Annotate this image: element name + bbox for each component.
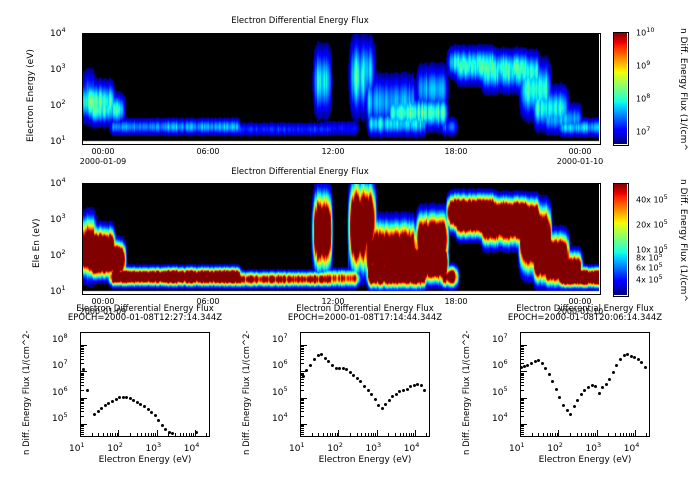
xtick-exp: 2 xyxy=(339,441,343,449)
ytick-minor xyxy=(521,399,524,400)
xtick-minor xyxy=(327,433,328,436)
ytick-exp: 5 xyxy=(503,385,507,393)
ytick-exp: 6 xyxy=(283,358,287,366)
data-point xyxy=(136,401,139,404)
data-point xyxy=(406,388,409,391)
ytick-minor xyxy=(81,434,84,435)
ytick-label: 10 xyxy=(52,361,63,371)
ytick-minor xyxy=(521,408,524,409)
cbar-tick-exp: 7 xyxy=(646,125,650,133)
xtick-minor xyxy=(400,433,401,436)
xtick-label: 00:00 xyxy=(81,147,125,156)
ytick-label: 10 xyxy=(50,29,61,39)
xtick-mark xyxy=(635,430,636,436)
ytick-exp: 5 xyxy=(63,411,67,419)
spectrogram2-colorbar-frame xyxy=(613,183,629,297)
ytick-minor xyxy=(81,363,84,364)
ytick-minor xyxy=(81,428,84,429)
ytick-minor xyxy=(81,385,84,386)
ytick: 106 xyxy=(52,385,68,398)
xtick-minor xyxy=(615,433,616,436)
spectrum-plot-area xyxy=(520,332,650,437)
data-point xyxy=(86,389,89,392)
data-point xyxy=(335,367,338,370)
ytick-minor xyxy=(521,359,524,360)
ytick-minor xyxy=(521,379,524,380)
ytick-minor xyxy=(301,379,304,380)
xtick-label: 10 xyxy=(586,444,597,454)
xtick-mark xyxy=(415,430,416,436)
cbar-tick-label: 6x 10 xyxy=(636,264,659,273)
ytick: 106 xyxy=(272,358,288,371)
cbar-tick-exp: 8 xyxy=(646,92,650,100)
xtick-minor xyxy=(626,433,627,436)
data-point xyxy=(605,383,608,386)
ytick-label: 10 xyxy=(52,414,63,424)
xtick-minor xyxy=(557,433,558,436)
spectrogram2-ylabel: Ele En (eV) xyxy=(32,218,42,268)
xtick-mark xyxy=(520,430,521,436)
ytick-minor xyxy=(301,349,304,350)
xtick-minor xyxy=(183,433,184,436)
xtick-minor xyxy=(595,433,596,436)
ytick-minor xyxy=(81,348,84,349)
xtick-minor xyxy=(388,433,389,436)
ytick-exp: 3 xyxy=(61,62,65,70)
xtick-minor xyxy=(547,433,548,436)
xtick-minor xyxy=(155,433,156,436)
xtick-minor xyxy=(117,433,118,436)
ytick-minor xyxy=(81,356,84,357)
cbar-tick-exp: 5 xyxy=(659,251,663,259)
ytick-exp: 4 xyxy=(503,411,507,419)
ytick-label: 10 xyxy=(272,335,283,345)
ytick-minor xyxy=(301,356,304,357)
xtick-minor xyxy=(112,433,113,436)
ytick: 105 xyxy=(52,411,68,424)
ytick-exp: 8 xyxy=(63,332,67,340)
spectrum-subtitle: EPOCH=2000-01-08T20:06:14.344Z xyxy=(442,313,697,323)
xtick-label: 10 xyxy=(366,444,377,454)
ytick-minor xyxy=(301,351,304,352)
ytick-minor xyxy=(521,426,524,427)
cbar-tick-label: 10 xyxy=(636,95,646,104)
data-point xyxy=(623,354,626,357)
xtick-minor xyxy=(588,433,589,436)
data-point xyxy=(423,389,426,392)
xtick-minor xyxy=(92,433,93,436)
data-point xyxy=(416,383,419,386)
data-point xyxy=(157,419,160,422)
ytick-minor xyxy=(521,411,524,412)
data-point xyxy=(591,384,594,387)
ytick-minor xyxy=(81,375,84,376)
data-point xyxy=(637,358,640,361)
xtick-label: 10 xyxy=(624,444,635,454)
ytick-exp: 4 xyxy=(61,26,65,34)
ytick-minor xyxy=(301,385,304,386)
ytick-minor xyxy=(301,426,304,427)
xtick-exp: 1 xyxy=(300,441,304,449)
ytick-exp: 4 xyxy=(283,411,287,419)
cbar-tick-exp: 10 xyxy=(646,26,654,34)
xtick-minor xyxy=(153,433,154,436)
xtick-label: 10 xyxy=(289,444,300,454)
xtick-minor xyxy=(189,433,190,436)
ytick-minor xyxy=(81,426,84,427)
ytick-exp: 7 xyxy=(63,358,67,366)
ytick-minor xyxy=(521,348,524,349)
data-point xyxy=(594,385,597,388)
xtick-minor xyxy=(318,433,319,436)
ytick-minor xyxy=(81,406,84,407)
xtick-minor xyxy=(145,433,146,436)
ytick-minor xyxy=(521,406,524,407)
data-point xyxy=(633,356,636,359)
xtick-exp: 1 xyxy=(520,441,524,449)
ytick-exp: 1 xyxy=(61,284,65,292)
xtick-minor xyxy=(151,433,152,436)
ytick-minor xyxy=(301,411,304,412)
xtick: 101 xyxy=(509,441,525,454)
ytick-exp: 2 xyxy=(61,98,65,106)
xtick-minor xyxy=(115,433,116,436)
spectrogram1-ylabel: Electron Energy (eV) xyxy=(26,49,36,142)
ytick-minor xyxy=(81,351,84,352)
xtick-minor xyxy=(337,433,338,436)
xtick-minor xyxy=(633,433,634,436)
xtick-minor xyxy=(186,433,187,436)
xtick-minor xyxy=(141,433,142,436)
ytick-exp: 2 xyxy=(61,248,65,256)
xtick-minor xyxy=(373,433,374,436)
data-point xyxy=(388,399,391,402)
ytick-minor xyxy=(81,408,84,409)
data-point xyxy=(111,400,114,403)
ytick-minor xyxy=(301,382,304,383)
data-point xyxy=(598,392,601,395)
ytick-minor xyxy=(521,390,524,391)
ytick-minor xyxy=(301,428,304,429)
ytick-label: 10 xyxy=(492,388,503,398)
ytick-exp: 5 xyxy=(283,385,287,393)
ytick-label: 10 xyxy=(50,215,61,225)
ytick-minor xyxy=(301,416,304,417)
ytick-minor xyxy=(81,400,84,401)
xtick: 102 xyxy=(107,441,123,454)
ytick-minor xyxy=(81,402,84,403)
xtick-minor xyxy=(411,433,412,436)
ytick-label: 10 xyxy=(52,388,63,398)
ytick-minor xyxy=(81,353,84,354)
data-point xyxy=(81,373,84,376)
cbar-tick-exp: 5 xyxy=(664,218,668,226)
xtick: 104 xyxy=(404,441,420,454)
xtick-exp: 3 xyxy=(157,441,161,449)
ytick: 107 xyxy=(52,358,68,371)
xtick-minor xyxy=(543,433,544,436)
cbar-tick-exp: 9 xyxy=(646,59,650,67)
xtick-minor xyxy=(332,433,333,436)
ytick-minor xyxy=(521,349,524,350)
spectrum-ylabel: n Diff. Energy Flux (1/(cm^2- xyxy=(462,330,472,455)
ytick-minor xyxy=(301,402,304,403)
ytick-minor xyxy=(301,430,304,431)
xtick-minor xyxy=(365,433,366,436)
ytick: 105 xyxy=(272,385,288,398)
cbar-tick-exp: 5 xyxy=(659,261,663,269)
ytick: 105 xyxy=(492,385,508,398)
xtick-minor xyxy=(608,433,609,436)
ytick-minor xyxy=(301,425,304,426)
xtick-minor xyxy=(375,433,376,436)
data-point xyxy=(143,405,146,408)
ytick-minor xyxy=(301,408,304,409)
ytick-minor xyxy=(521,385,524,386)
ytick-minor xyxy=(521,346,524,347)
ytick: 107 xyxy=(492,332,508,345)
ytick-label: 10 xyxy=(492,361,503,371)
xtick-mark xyxy=(118,430,119,436)
xtick: 104 xyxy=(184,441,200,454)
ytick-minor xyxy=(521,374,524,375)
data-point xyxy=(302,375,305,378)
data-point xyxy=(530,362,533,365)
spectrum-xlabel: Electron Energy (eV) xyxy=(495,455,675,465)
ytick-exp: 6 xyxy=(503,358,507,366)
spectrogram1-frame xyxy=(82,33,601,145)
xtick-minor xyxy=(361,433,362,436)
xtick: 101 xyxy=(289,441,305,454)
data-point xyxy=(573,405,576,408)
xtick-minor xyxy=(646,433,647,436)
ytick-minor xyxy=(81,399,84,400)
ytick-minor xyxy=(521,382,524,383)
data-point xyxy=(374,398,377,401)
spectrogram2-title: Electron Differential Energy Flux xyxy=(0,167,600,177)
data-point xyxy=(370,393,373,396)
xtick-minor xyxy=(323,433,324,436)
xtick-mark xyxy=(558,430,559,436)
ytick: 104 xyxy=(492,411,508,424)
xtick-minor xyxy=(206,433,207,436)
xtick-label: 10 xyxy=(107,444,118,454)
xtick-minor xyxy=(406,433,407,436)
ytick-minor xyxy=(521,403,524,404)
ytick-minor xyxy=(301,406,304,407)
ytick-minor xyxy=(81,359,84,360)
xtick-minor xyxy=(350,433,351,436)
xtick-minor xyxy=(130,433,131,436)
ytick-minor xyxy=(301,348,304,349)
cbar-tick-label: 20x 10 xyxy=(636,221,664,230)
ytick-minor xyxy=(301,363,304,364)
ytick-minor xyxy=(81,377,84,378)
xtick-minor xyxy=(585,433,586,436)
ytick-minor xyxy=(81,432,84,433)
xtick-exp: 3 xyxy=(597,441,601,449)
ytick-minor xyxy=(521,416,524,417)
ytick-label: 10 xyxy=(272,388,283,398)
xtick-mark xyxy=(338,430,339,436)
xtick-minor xyxy=(357,433,358,436)
data-point xyxy=(349,371,352,374)
cbar-tick-exp: 5 xyxy=(659,273,663,281)
xtick-mark xyxy=(377,430,378,436)
data-point xyxy=(402,389,405,392)
xtick-label: 06:00 xyxy=(186,147,230,156)
spectrogram1-colorbar-label: n Diff. Energy Flux (1/(cm^ xyxy=(678,28,688,151)
data-point xyxy=(420,384,423,387)
spectrum-ylabel: n Diff. Energy Flux (1/(cm^2- xyxy=(242,330,252,455)
ytick: 108 xyxy=(52,332,68,345)
ytick: 104 xyxy=(272,411,288,424)
cbar-tick-exp: 5 xyxy=(664,193,668,201)
xtick-exp: 2 xyxy=(559,441,563,449)
ytick-minor xyxy=(521,356,524,357)
xtick-minor xyxy=(426,433,427,436)
xtick-minor xyxy=(137,433,138,436)
spectrum-plot-area xyxy=(80,332,210,437)
ytick-label: 10 xyxy=(492,335,503,345)
ytick-minor xyxy=(521,363,524,364)
xtick-minor xyxy=(555,433,556,436)
data-point xyxy=(395,393,398,396)
cbar-tick-exp: 5 xyxy=(664,243,668,251)
ytick-minor xyxy=(81,349,84,350)
xtick-minor xyxy=(193,433,194,436)
cbar-tick-label: 10 xyxy=(636,128,646,137)
xtick-mark xyxy=(597,430,598,436)
xtick-minor xyxy=(330,433,331,436)
xtick-minor xyxy=(148,433,149,436)
xtick-minor xyxy=(371,433,372,436)
xtick: 102 xyxy=(547,441,563,454)
ytick-minor xyxy=(301,390,304,391)
ytick-minor xyxy=(81,411,84,412)
xtick-minor xyxy=(395,433,396,436)
ytick-label: 10 xyxy=(50,287,61,297)
data-point xyxy=(154,414,157,417)
data-point xyxy=(313,358,316,361)
ytick-minor xyxy=(81,382,84,383)
xtick-minor xyxy=(532,433,533,436)
data-point xyxy=(93,413,96,416)
ytick-label: 10 xyxy=(50,101,61,111)
xtick-minor xyxy=(538,433,539,436)
xtick-label: 10 xyxy=(404,444,415,454)
data-point xyxy=(619,358,622,361)
ytick-minor xyxy=(301,346,304,347)
xtick-minor xyxy=(409,433,410,436)
spectrogram2-frame xyxy=(82,183,601,295)
ytick-minor xyxy=(521,432,524,433)
data-point xyxy=(541,362,544,365)
xtick-label: 10 xyxy=(69,444,80,454)
xtick-minor xyxy=(175,433,176,436)
xtick-minor xyxy=(552,433,553,436)
xaxis-date-end: 2000-01-10 xyxy=(547,157,613,166)
cbar-tick-label: 10 xyxy=(636,29,646,38)
data-point xyxy=(147,408,150,411)
spectrum-ylabel: n Diff. Energy Flux (1/(cm^2- xyxy=(22,330,32,455)
ytick-minor xyxy=(301,353,304,354)
xtick-minor xyxy=(180,433,181,436)
xtick-label: 10 xyxy=(327,444,338,454)
xtick: 102 xyxy=(327,441,343,454)
data-point xyxy=(562,404,565,407)
xtick-minor xyxy=(107,433,108,436)
xtick-minor xyxy=(98,433,99,436)
ytick-minor xyxy=(301,403,304,404)
xtick-label: 10 xyxy=(184,444,195,454)
ytick-minor xyxy=(81,346,84,347)
ytick-minor xyxy=(521,402,524,403)
ytick-minor xyxy=(521,425,524,426)
ytick-minor xyxy=(301,432,304,433)
spectrum-xlabel: Electron Energy (eV) xyxy=(55,455,235,465)
ytick: 106 xyxy=(492,358,508,371)
xtick-exp: 4 xyxy=(635,441,639,449)
ytick-exp: 1 xyxy=(61,134,65,142)
ytick-minor xyxy=(301,399,304,400)
spectrum-xlabel: Electron Energy (eV) xyxy=(275,455,455,465)
cbar-tick-label: 10 xyxy=(636,62,646,71)
xtick-exp: 4 xyxy=(195,441,199,449)
xtick-minor xyxy=(629,433,630,436)
spectrogram1-colorbar-frame xyxy=(613,32,629,146)
xtick-mark xyxy=(80,430,81,436)
xtick-mark xyxy=(157,430,158,436)
ytick-minor xyxy=(521,430,524,431)
xtick-exp: 4 xyxy=(415,441,419,449)
ytick-minor xyxy=(301,434,304,435)
ytick-minor xyxy=(301,373,304,374)
xtick-minor xyxy=(368,433,369,436)
xtick-label: 00:00 xyxy=(558,147,602,156)
ytick: 107 xyxy=(272,332,288,345)
ytick-minor xyxy=(81,379,84,380)
data-point xyxy=(363,385,366,388)
ytick-minor xyxy=(81,403,84,404)
ytick-minor xyxy=(521,377,524,378)
xtick-minor xyxy=(631,433,632,436)
data-point xyxy=(587,386,590,389)
xtick-minor xyxy=(591,433,592,436)
xtick-minor xyxy=(191,433,192,436)
cbar-tick-label: 40x 10 xyxy=(636,196,664,205)
ytick-exp: 7 xyxy=(503,332,507,340)
ytick-exp: 6 xyxy=(63,385,67,393)
xtick-label: 12:00 xyxy=(311,147,355,156)
xtick: 104 xyxy=(624,441,640,454)
ytick-label: 10 xyxy=(272,414,283,424)
xtick-label: 10 xyxy=(547,444,558,454)
xtick-minor xyxy=(413,433,414,436)
ytick-minor xyxy=(521,351,524,352)
ytick-minor xyxy=(521,375,524,376)
cbar-tick-label: 4x 10 xyxy=(636,276,659,285)
xtick-minor xyxy=(403,433,404,436)
ytick-minor xyxy=(521,428,524,429)
xtick-minor xyxy=(570,433,571,436)
ytick-minor xyxy=(521,353,524,354)
xtick-minor xyxy=(593,433,594,436)
ytick-minor xyxy=(81,425,84,426)
ytick-minor xyxy=(301,359,304,360)
xtick-mark xyxy=(300,430,301,436)
data-point xyxy=(309,364,312,367)
